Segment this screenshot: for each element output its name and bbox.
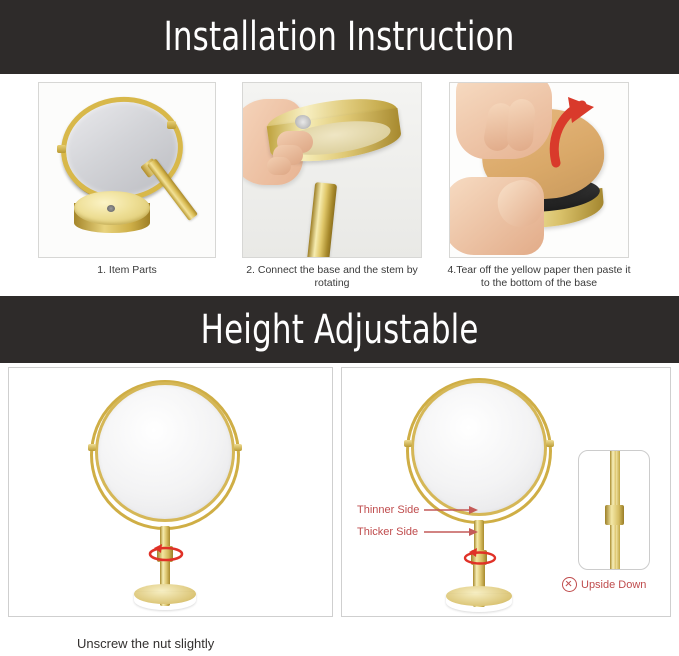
upside-down-inset [578,450,650,570]
step-photo-item-parts [38,82,216,258]
height-adjustable-banner: Height Adjustable [0,296,679,363]
upside-down-warning: Upside Down [562,577,646,592]
mirror-illustration [384,374,584,614]
step-photo-tear-paper [449,82,629,258]
step-caption-tear-paper: 4.Tear off the yellow paper then paste i… [447,264,631,289]
mirror-base [74,191,150,243]
step-caption-item-parts: 1. Item Parts [38,264,216,277]
base-center-screw [107,205,115,212]
mirror-illustration [64,376,264,614]
finger [267,157,291,175]
step-caption-connect-base: 2. Connect the base and the stem by rota… [240,264,424,289]
annotation-arrow-thicker-icon [424,525,480,543]
installation-instruction-banner: Installation Instruction [0,0,679,74]
unscrew-nut-caption: Unscrew the nut slightly [77,636,214,651]
upside-down-label: Upside Down [581,579,646,591]
mirror-pivot-knob-right [167,121,176,129]
installation-steps-row: 1. Item Parts 2. Connect the base and th… [0,82,679,292]
installation-instruction-title: Installation Instruction [164,14,515,60]
rotate-arrow-icon [460,546,500,573]
step-photo-connect-base [242,82,422,258]
rotate-arrow-icon [146,542,186,569]
finger [506,98,536,152]
annotation-thinner-side: Thinner Side [357,504,419,516]
mirror-pivot-knob-left [57,145,66,153]
peel-direction-arrow-icon [542,93,598,174]
panel-unscrew-nut [8,367,333,617]
x-circle-icon [562,577,577,592]
adjustment-nut-closeup [605,505,624,525]
height-adjustable-title: Height Adjustable [200,307,478,353]
annotation-arrow-thinner-icon [424,503,480,521]
annotation-thicker-side: Thicker Side [357,526,418,538]
